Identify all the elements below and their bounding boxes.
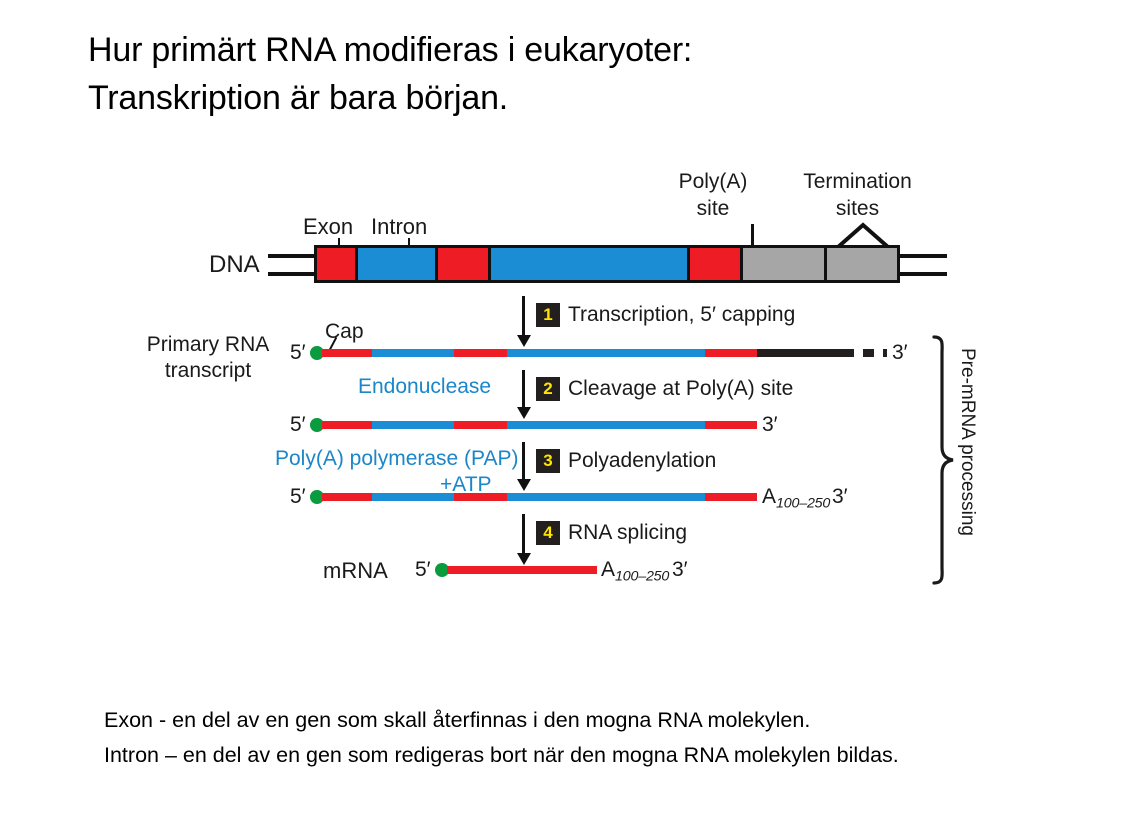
step-3-arrow-shaft	[522, 442, 525, 484]
step-1-arrow-head	[517, 335, 531, 347]
step-1-text: Transcription, 5′ capping	[568, 303, 795, 327]
step-4-text: RNA splicing	[568, 521, 687, 545]
dna-termination-region-2	[827, 248, 900, 280]
primary-transcript-intron-2	[507, 349, 705, 357]
step-4-arrow-shaft	[522, 514, 525, 558]
polyadenylated-exon-1	[322, 493, 372, 501]
mrna-label: mRNA	[323, 558, 388, 584]
definitions-caption: Exon - en del av en gen som skall återfi…	[104, 703, 1084, 773]
step-4-badge: 4	[536, 521, 560, 545]
intron-definition: Intron – en del av en gen som redigeras …	[104, 738, 1084, 773]
cleaved-transcript-intron-1	[372, 421, 454, 429]
dna-strand-right-upper	[897, 254, 947, 258]
polyadenylated-exon-3	[705, 493, 757, 501]
intron-label: Intron	[371, 214, 427, 240]
dna-intron-1	[358, 248, 438, 280]
step-3-badge: 3	[536, 449, 560, 473]
polya-site-label-line2: site	[661, 197, 765, 221]
primary-transcript-downstream	[757, 349, 843, 357]
cleaved-transcript-5-prime: 5′	[290, 413, 306, 437]
mrna-polya-tail: A100–250	[601, 558, 669, 585]
dna-exon-1	[314, 248, 358, 280]
mrna-3-prime: 3′	[672, 558, 688, 582]
step-2-arrow-head	[517, 407, 531, 419]
pre-mrna-processing-label: Pre-mRNA processing	[956, 348, 978, 536]
primary-transcript-exon-3	[705, 349, 757, 357]
polyadenylated-exon-2	[454, 493, 507, 501]
polyadenylated-intron-1	[372, 493, 454, 501]
dna-label: DNA	[209, 251, 260, 279]
dna-exon-3	[690, 248, 743, 280]
pre-mrna-processing-brace	[930, 335, 956, 585]
primary-transcript-dashed-tail	[843, 349, 887, 357]
step-4-arrow-head	[517, 553, 531, 565]
primary-transcript-3-prime: 3′	[892, 341, 908, 365]
polya-tail-base: A	[762, 485, 776, 508]
endonuclease-label: Endonuclease	[358, 375, 491, 399]
polyadenylated-polya-tail: A100–250	[762, 485, 830, 512]
dna-strand-left-upper	[268, 254, 316, 258]
pap-label-line1: Poly(A) polymerase (PAP)	[275, 447, 519, 471]
step-3-text: Polyadenylation	[568, 449, 716, 473]
polyadenylated-intron-2	[507, 493, 705, 501]
polya-site-label-line1: Poly(A)	[661, 170, 765, 194]
primary-transcript-exon-2	[454, 349, 507, 357]
step-2-text: Cleavage at Poly(A) site	[568, 377, 793, 401]
dna-strand-left-lower	[268, 272, 316, 276]
cleaved-transcript-exon-2	[454, 421, 507, 429]
dna-termination-region-1	[743, 248, 827, 280]
primary-transcript-5-prime: 5′	[290, 341, 306, 365]
dna-exon-2	[438, 248, 491, 280]
primary-transcript-label-line2: transcript	[132, 359, 284, 383]
termination-label-line1: Termination	[770, 170, 945, 194]
mrna-polya-tail-subscript: 100–250	[615, 569, 669, 585]
step-3-arrow-head	[517, 479, 531, 491]
primary-transcript-exon-1	[322, 349, 372, 357]
primary-transcript-label-line1: Primary RNA	[132, 333, 284, 357]
mrna-polya-tail-base: A	[601, 558, 615, 581]
dna-strand-right-lower	[897, 272, 947, 276]
cleaved-transcript-3-prime: 3′	[762, 413, 778, 437]
termination-label-line2: sites	[770, 197, 945, 221]
polya-tail-subscript: 100–250	[776, 496, 830, 512]
primary-transcript-intron-1	[372, 349, 454, 357]
mrna-5-prime: 5′	[415, 558, 431, 582]
polyadenylated-5-prime: 5′	[290, 485, 306, 509]
dna-gene-bar	[314, 245, 900, 283]
rna-processing-diagram: Exon Intron Poly(A) site Termination sit…	[0, 0, 1140, 824]
step-1-badge: 1	[536, 303, 560, 327]
cap-label: Cap	[325, 320, 364, 344]
step-2-badge: 2	[536, 377, 560, 401]
exon-definition: Exon - en del av en gen som skall återfi…	[104, 703, 1084, 738]
step-2-arrow-shaft	[522, 370, 525, 412]
cleaved-transcript-intron-2	[507, 421, 705, 429]
exon-label: Exon	[303, 214, 353, 240]
cleaved-transcript-exon-1	[322, 421, 372, 429]
dna-intron-2	[491, 248, 690, 280]
step-1-arrow-shaft	[522, 296, 525, 340]
polyadenylated-3-prime: 3′	[832, 485, 848, 509]
cleaved-transcript-exon-3	[705, 421, 757, 429]
mrna-coding-sequence	[447, 566, 597, 574]
